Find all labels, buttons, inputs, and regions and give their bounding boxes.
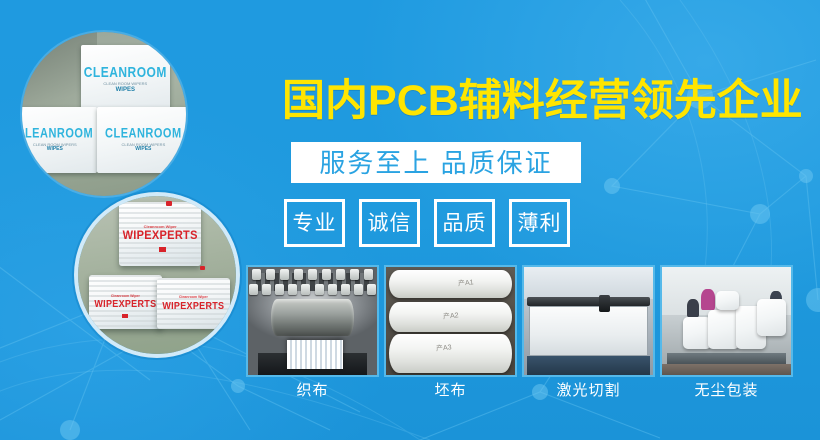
feature-tag-label: 专业 xyxy=(293,213,337,234)
machine-drum xyxy=(271,299,354,336)
fabric-roll: 产A1 xyxy=(389,270,513,298)
packed-bundle xyxy=(757,299,785,336)
workshop-floor xyxy=(662,364,791,375)
feature-tag-low-margin[interactable]: 薄利 xyxy=(509,199,570,247)
photo-laser-cutter xyxy=(524,267,653,375)
product-photo-wipexperts-bales: Cleanroom Wiper WIPEXPERTS Cleanroom Wip… xyxy=(78,196,236,354)
bale-brand-label: WIPEXPERTS xyxy=(94,300,156,310)
product-photo-cleanroom-packs: CLEANROOM CLEAN ROOM WIPERS WIPES CLEANR… xyxy=(22,32,186,196)
worker xyxy=(687,299,700,316)
gantry-rail xyxy=(527,297,651,306)
packing-table xyxy=(667,353,786,364)
process-item-cleanroom-packing[interactable]: 无尘包装 xyxy=(660,265,793,405)
packed-bundle xyxy=(716,291,739,310)
bale-brand-label: WIPEXPERTS xyxy=(123,231,198,243)
promo-banner: CLEANROOM CLEAN ROOM WIPERS WIPES CLEANR… xyxy=(0,0,820,440)
bale-stamp xyxy=(200,266,205,270)
cutting-bed xyxy=(529,306,648,356)
photo-fabric-rolls: 产A1 产A2 产A3 xyxy=(386,267,515,375)
bale-stamp xyxy=(166,201,172,206)
banner-subtitle-bar: 服务至上 品质保证 xyxy=(291,142,581,183)
feature-tag-list: 专业 诚信 品质 薄利 xyxy=(284,199,570,247)
process-item-weaving[interactable]: 织布 xyxy=(246,265,379,405)
bale-brand-label: WIPEXPERTS xyxy=(162,301,224,311)
wipes-pack: CLEANROOM CLEAN ROOM WIPERS WIPES xyxy=(97,107,186,173)
banner-headline: 国内PCB辅料经营领先企业 xyxy=(282,72,787,130)
process-photo-knitting-machine[interactable] xyxy=(246,265,379,377)
knitted-fabric-tube xyxy=(287,340,344,368)
wipe-bale: Cleanroom Wiper WIPEXPERTS xyxy=(157,278,230,329)
process-caption: 无尘包装 xyxy=(660,377,793,405)
process-photo-packing-workshop[interactable] xyxy=(660,265,793,377)
machine-frame xyxy=(527,356,651,375)
wipes-pack: CLEANROOM CLEAN ROOM WIPERS WIPES xyxy=(81,45,170,114)
pack-wipes-label: WIPES xyxy=(47,147,63,152)
process-photo-fabric-rolls[interactable]: 产A1 产A2 产A3 xyxy=(384,265,517,377)
feature-tag-quality[interactable]: 品质 xyxy=(434,199,495,247)
feature-tag-label: 品质 xyxy=(443,213,487,234)
pack-wipes-label: WIPES xyxy=(135,147,151,152)
fabric-roll: 产A3 xyxy=(389,334,513,373)
spool-row xyxy=(248,284,377,295)
process-item-greige-fabric[interactable]: 产A1 产A2 产A3 坯布 xyxy=(384,265,517,405)
feature-tag-integrity[interactable]: 诚信 xyxy=(359,199,420,247)
worker xyxy=(701,289,715,311)
bale-top-label: Cleanroom Wiper xyxy=(179,296,208,300)
process-photo-laser-cutter[interactable] xyxy=(522,265,655,377)
workshop-wall xyxy=(524,267,653,299)
process-caption: 织布 xyxy=(246,377,379,405)
process-thumbnail-row: 织布 产A1 产A2 产A3 坯布 xyxy=(246,265,793,405)
wipe-bale: Cleanroom Wiper WIPEXPERTS xyxy=(89,275,162,329)
spool-row xyxy=(248,269,377,280)
feature-tag-label: 薄利 xyxy=(518,213,562,234)
wipes-pack: CLEANROOM CLEAN ROOM WIPERS WIPES xyxy=(22,107,97,173)
bale-stamp xyxy=(159,247,166,252)
photo-packing-workshop xyxy=(662,267,791,375)
pack-brand-label: CLEANROOM xyxy=(84,64,167,79)
feature-tag-label: 诚信 xyxy=(368,213,412,234)
process-caption: 激光切割 xyxy=(522,377,655,405)
process-item-laser-cutting[interactable]: 激光切割 xyxy=(522,265,655,405)
wipe-bale: Cleanroom Wiper WIPEXPERTS xyxy=(119,202,201,265)
packed-bundle xyxy=(683,317,711,349)
photo-knitting-machine xyxy=(248,267,377,375)
pack-brand-label: CLEANROOM xyxy=(22,127,93,141)
laser-head xyxy=(599,295,611,312)
pack-wipes-label: WIPES xyxy=(116,87,135,93)
banner-subtitle-text: 服务至上 品质保证 xyxy=(319,150,552,176)
process-caption: 坯布 xyxy=(384,377,517,405)
fabric-roll: 产A2 xyxy=(389,302,513,332)
pack-brand-label: CLEANROOM xyxy=(105,127,182,141)
feature-tag-professional[interactable]: 专业 xyxy=(284,199,345,247)
pack-subline: CLEAN ROOM WIPERS xyxy=(103,82,147,86)
bale-stamp xyxy=(122,314,128,318)
packed-bundle xyxy=(708,310,739,349)
